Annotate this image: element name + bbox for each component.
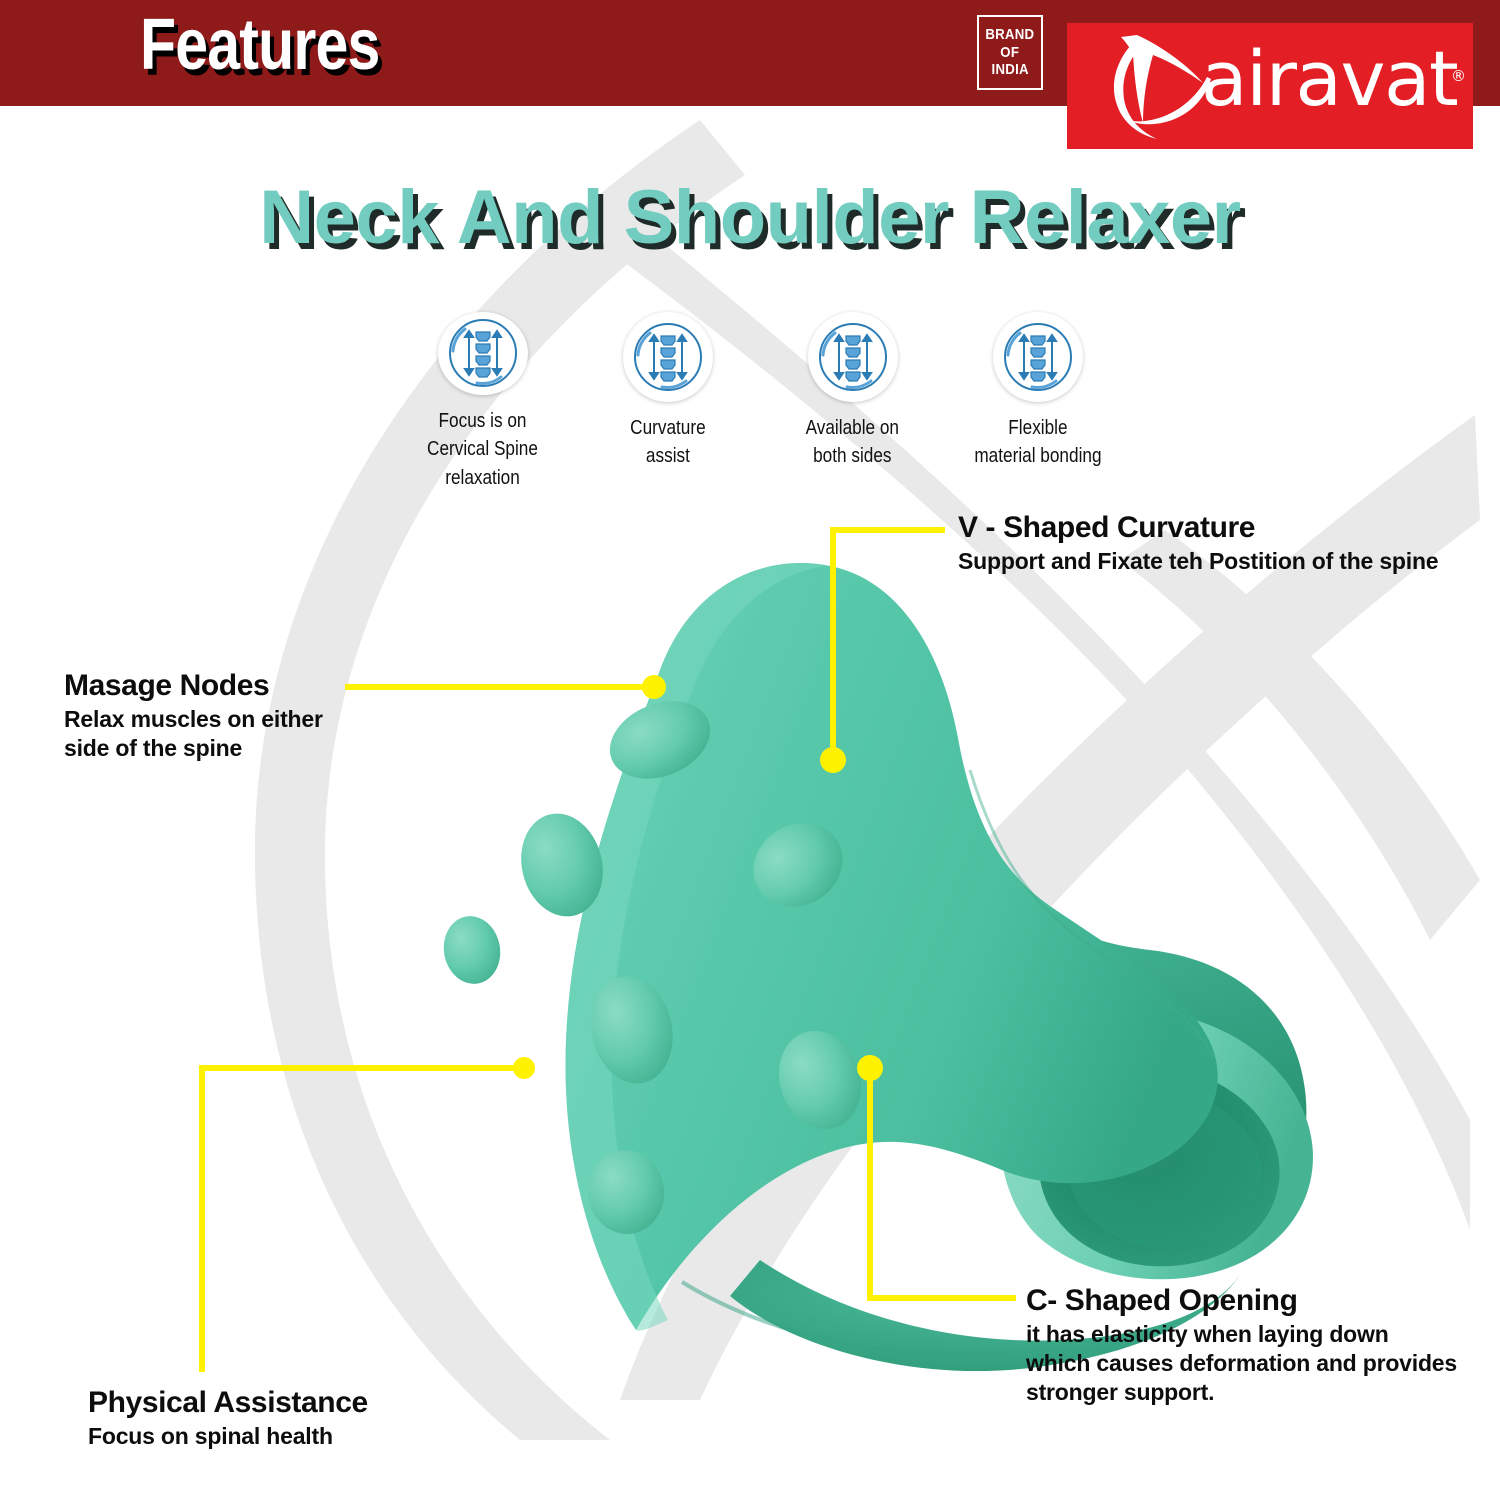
callout-title: Physical Assistance: [88, 1385, 368, 1420]
feature-icon-item-3: Flexible material bonding: [945, 312, 1130, 492]
badge-line-2: OF: [1001, 44, 1020, 62]
spine-vertebrae-icon: [808, 312, 898, 402]
callout-title: Masage Nodes: [64, 668, 323, 703]
callout-body: Focus on spinal health: [88, 1422, 368, 1451]
feature-icon-label: Available on both sides: [806, 414, 899, 471]
feature-icon-row: Focus is on Cervical Spine relaxation: [390, 312, 1130, 492]
feature-icon-item-0: Focus is on Cervical Spine relaxation: [390, 312, 575, 492]
feature-icon-label: Flexible material bonding: [974, 414, 1101, 471]
spine-vertebrae-icon: [623, 312, 713, 402]
neck-relaxer-product-image: [330, 470, 1330, 1400]
feature-icon-label: Focus is on Cervical Spine relaxation: [403, 407, 562, 492]
airavat-logo: airavat ®: [1067, 23, 1473, 149]
callout-title: V - Shaped Curvature: [958, 510, 1438, 545]
feature-icon-item-2: Available on both sides: [760, 312, 945, 492]
logo-wordmark: airavat: [1201, 41, 1457, 117]
callout-body: Relax muscles on either side of the spin…: [64, 705, 323, 763]
spine-vertebrae-icon: [993, 312, 1083, 402]
badge-line-1: BRAND: [985, 26, 1034, 44]
feature-icon-item-1: Curvature assist: [575, 312, 760, 492]
callout-c-shaped-opening: C- Shaped Opening it has elasticity when…: [1026, 1283, 1457, 1407]
infographic-page: Features BRAND OF INDIA airavat ® Neck A…: [0, 0, 1500, 1500]
callout-body: it has elasticity when laying down which…: [1026, 1320, 1457, 1407]
registered-mark: ®: [1451, 67, 1466, 85]
spine-vertebrae-icon: [438, 312, 528, 395]
brand-of-india-badge: BRAND OF INDIA: [977, 15, 1043, 90]
callout-physical-assistance: Physical Assistance Focus on spinal heal…: [88, 1385, 368, 1451]
product-heading: Neck And Shoulder Relaxer: [0, 176, 1500, 260]
callout-body: Support and Fixate teh Postition of the …: [958, 547, 1438, 576]
feature-icon-label: Curvature assist: [630, 414, 706, 471]
badge-line-3: INDIA: [991, 61, 1028, 79]
callout-v-shaped-curvature: V - Shaped Curvature Support and Fixate …: [958, 510, 1438, 576]
callout-title: C- Shaped Opening: [1026, 1283, 1457, 1318]
page-title: Features: [140, 8, 380, 84]
callout-massage-nodes: Masage Nodes Relax muscles on either sid…: [64, 668, 323, 763]
